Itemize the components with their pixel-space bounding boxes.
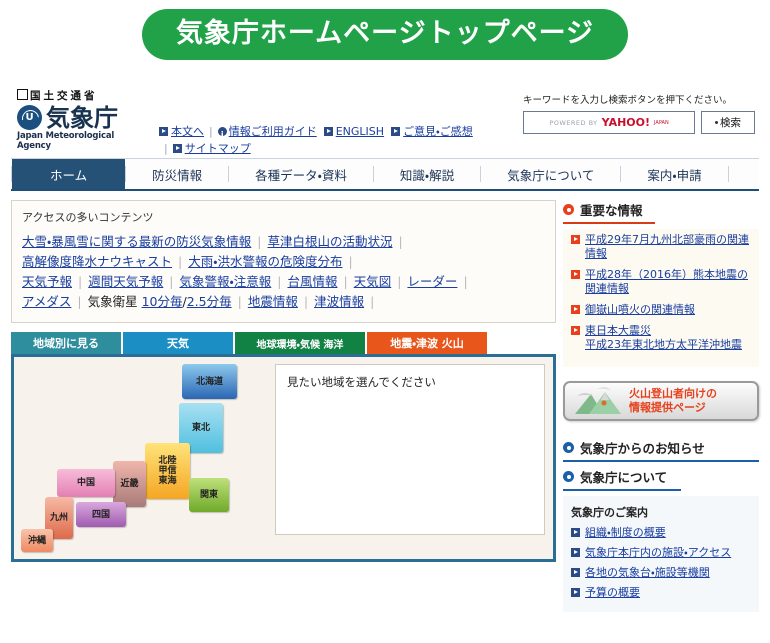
link-kusatsu-volcano[interactable]: 草津白根山の活動状況 [267,234,392,249]
important-info-item[interactable]: 御嶽山噴火の関連情報 [571,303,755,317]
nav-item-disaster[interactable]: 防災情報 [126,159,228,189]
square-arrow-icon [159,127,168,136]
nav-item-about[interactable]: 気象庁について [481,159,620,189]
link-org-overview[interactable]: 組織・制度の概要 [585,526,666,540]
region-label: 北海道 [196,377,223,387]
link-english[interactable]: ENGLISH [336,125,384,138]
region-block[interactable]: 沖縄 [21,529,53,552]
link-ontake-eruption[interactable]: 御嶽山噴火の関連情報 [585,303,695,317]
important-info-header: 重要な情報 [563,200,759,222]
tab-earthquake-tsunami-volcano[interactable]: 地震・津波 火山 [367,332,487,354]
link-divider: | [164,142,168,155]
site-header: 国土交通省 気象庁 Japan Meteorological Agency 本文… [11,86,759,158]
about-subtitle: 気象庁のご案内 [571,504,753,520]
notices-header: 気象庁からのお知らせ [563,438,759,460]
blue-bullet-icon [563,442,574,453]
square-arrow-icon [324,127,333,136]
region-label: 沖縄 [28,536,46,546]
search-input[interactable] [524,112,694,133]
label-satellite: 気象衛星 [88,294,138,309]
ministry-name: 国土交通省 [17,88,145,103]
about-list-item[interactable]: 気象庁本庁内の施設・アクセス [571,546,753,560]
search-button-label: 検索 [720,115,741,130]
square-arrow-icon [571,326,580,335]
agency-logo[interactable]: 国土交通省 気象庁 Japan Meteorological Agency [17,88,145,151]
important-info-title: 重要な情報 [580,200,643,219]
important-info-item[interactable]: 東日本大震災 平成23年東北地方太平洋沖地震 [571,324,755,352]
link-honbun[interactable]: 本文へ [171,125,204,138]
search-icon [715,121,718,124]
square-arrow-icon [571,548,580,557]
nav-item-home[interactable]: ホーム [12,159,125,189]
section-rule [563,460,759,462]
link-satellite-2p5min[interactable]: 2.5分毎 [187,294,232,309]
ministry-emblem-icon [17,89,28,100]
square-arrow-icon [173,144,182,153]
section-rule [563,489,681,491]
link-great-east-japan-earthquake[interactable]: 東日本大震災 平成23年東北地方太平洋沖地震 [585,324,742,352]
page-title-text: 気象庁ホームページトップページ [142,9,628,60]
link-typhoon[interactable]: 台風情報 [287,274,337,289]
link-hq-facilities-access[interactable]: 気象庁本庁内の施設・アクセス [585,546,731,560]
left-column: アクセスの多いコンテンツ 大雪・暴風雪に関する最新の防災気象情報|草津白根山の活… [11,200,556,612]
about-header: 気象庁について [563,467,759,489]
region-label: 中国 [77,478,95,488]
tab-by-region[interactable]: 地域別に見る [11,332,121,354]
region-block[interactable]: 北海道 [182,364,237,399]
region-prompt-text: 見たい地域を選んでください [287,375,436,389]
link-tsunami-info[interactable]: 津波情報 [314,294,364,309]
volcano-banner-line1: 火山登山者向けの [629,387,717,401]
about-list-item[interactable]: 組織・制度の概要 [571,526,753,540]
section-rule [563,222,655,224]
volcano-climber-banner[interactable]: 火山登山者向けの 情報提供ページ [563,381,759,421]
about-list: 気象庁のご案内 組織・制度の概要 気象庁本庁内の施設・アクセス 各地の気象台・施… [563,496,759,612]
region-label: 近畿 [120,479,138,489]
tab-environment-climate-ocean[interactable]: 地球環境・気候 海洋 [235,332,365,354]
search-hint-text: キーワードを入力し検索ボタンを押下ください。 [523,92,755,106]
link-heavy-snow-info[interactable]: 大雪・暴風雪に関する最新の防災気象情報 [22,234,251,249]
link-divider: | [209,125,213,138]
japan-region-map: 北海道東北北陸甲信東海関東近畿中国四国九州沖縄 [14,357,271,559]
important-info-item[interactable]: 平成29年7月九州北部豪雨の関連情報 [571,233,755,261]
search-area: キーワードを入力し検索ボタンを押下ください。 POWERED BY YAHOO!… [523,92,755,134]
right-column: 重要な情報 平成29年7月九州北部豪雨の関連情報 平成28年（2016年）熊本地… [563,200,759,612]
content-columns: アクセスの多いコンテンツ 大雪・暴風雪に関する最新の防災気象情報|草津白根山の活… [11,200,759,612]
link-highres-nowcast[interactable]: 高解像度降水ナウキャスト [22,254,172,269]
link-earthquake-info[interactable]: 地震情報 [248,294,298,309]
region-label: 甲信 [158,466,176,476]
volcano-banner-line2: 情報提供ページ [629,401,717,415]
link-budget-overview[interactable]: 予算の概要 [585,586,640,600]
nav-divider [728,166,729,182]
red-bullet-icon [563,204,574,215]
jma-logo-icon [17,105,42,130]
region-block[interactable]: 中国 [57,469,115,497]
search-box[interactable]: POWERED BY YAHOO! JAPAN [523,111,695,134]
popular-links-row-3: 天気予報|週間天気予報|気象警報・注意報|台風情報|天気図|レーダー| [22,272,545,292]
link-weather-chart[interactable]: 天気図 [354,274,392,289]
blue-bullet-icon [563,471,574,482]
square-arrow-icon [391,127,400,136]
square-arrow-icon [571,305,580,314]
nav-item-guide-apply[interactable]: 案内・申請 [621,159,727,189]
about-list-item[interactable]: 各地の気象台・施設等機関 [571,566,753,580]
about-title: 気象庁について [580,467,667,486]
nav-item-data[interactable]: 各種データ・資料 [229,159,373,189]
link-satellite-10min[interactable]: 10分毎 [142,294,183,309]
global-navigation: ホーム 防災情報 各種データ・資料 知識・解説 気象庁について 案内・申請 [11,158,759,191]
link-warnings[interactable]: 気象警報・注意報 [179,274,271,289]
link-local-observatories[interactable]: 各地の気象台・施設等機関 [585,566,710,580]
link-kumamoto-earthquake-2016[interactable]: 平成28年（2016年）熊本地震の関連情報 [585,268,755,296]
region-label: 四国 [92,510,110,520]
search-button[interactable]: 検索 [701,111,755,134]
notices-section[interactable]: 気象庁からのお知らせ [563,438,759,462]
tab-content-panel: 北海道東北北陸甲信東海関東近畿中国四国九州沖縄 見たい地域を選んでください [11,354,556,562]
square-arrow-icon [571,568,580,577]
region-label: 九州 [50,513,68,523]
region-label: 関東 [200,490,218,500]
popular-links-row-4: アメダス|気象衛星 10分毎/2.5分毎|地震情報|津波情報| [22,292,545,312]
region-block[interactable]: 関東 [189,478,229,512]
browser-page: 国土交通省 気象庁 Japan Meteorological Agency 本文… [11,86,759,635]
about-section: 気象庁について 気象庁のご案内 組織・制度の概要 気象庁本庁内の施設・アクセス [563,467,759,612]
region-tab-panel: 地域別に見る 天気 地球環境・気候 海洋 地震・津波 火山 北海道東北北陸甲信東… [11,332,556,562]
tab-weather[interactable]: 天気 [123,332,233,354]
popular-links-row-1: 大雪・暴風雪に関する最新の防災気象情報|草津白根山の活動状況| [22,232,545,252]
agency-name-ja: 気象庁 [46,106,118,130]
volcano-banner-text: 火山登山者向けの 情報提供ページ [629,387,717,415]
link-kyushu-heavy-rain-2017[interactable]: 平成29年7月九州北部豪雨の関連情報 [585,233,755,261]
popular-links-row-2: 高解像度降水ナウキャスト|大雨・洪水警報の危険度分布| [22,252,545,272]
link-weekly-forecast[interactable]: 週間天気予報 [88,274,163,289]
region-label: 東北 [192,423,210,433]
popular-content-box: アクセスの多いコンテンツ 大雪・暴風雪に関する最新の防災気象情報|草津白根山の活… [11,200,556,323]
square-arrow-icon [571,235,580,244]
link-sitemap[interactable]: サイトマップ [185,142,251,155]
region-block[interactable]: 近畿 [113,461,146,507]
important-info-list: 平成29年7月九州北部豪雨の関連情報 平成28年（2016年）熊本地震の関連情報… [563,229,759,367]
info-circle-icon [218,127,227,136]
square-arrow-icon [571,588,580,597]
important-info-section: 重要な情報 平成29年7月九州北部豪雨の関連情報 平成28年（2016年）熊本地… [563,200,759,367]
notices-title: 気象庁からのお知らせ [580,438,705,457]
link-amedas[interactable]: アメダス [22,294,71,309]
link-feedback[interactable]: ご意見・ご感想 [403,125,473,138]
square-arrow-icon [571,528,580,537]
page-title-banner: 気象庁ホームページトップページ [0,9,770,60]
important-info-item[interactable]: 平成28年（2016年）熊本地震の関連情報 [571,268,755,296]
nav-item-knowledge[interactable]: 知識・解説 [374,159,480,189]
link-guide[interactable]: 情報ご利用ガイド [229,125,317,138]
tab-strip: 地域別に見る 天気 地球環境・気候 海洋 地震・津波 火山 [11,332,556,354]
region-label: 北陸 [158,456,176,466]
region-label: 東海 [158,476,176,486]
square-arrow-icon [571,270,580,279]
region-prompt-box: 見たい地域を選んでください [275,364,545,535]
utility-links: 本文へ|情報ご利用ガイド ENGLISH ご意見・ご感想 |サイトマップ [159,123,519,157]
link-weather-forecast[interactable]: 天気予報 [22,274,72,289]
link-radar[interactable]: レーダー [407,274,457,289]
agency-name-en: Japan Meteorological Agency [17,131,145,151]
about-list-item[interactable]: 予算の概要 [571,586,753,600]
link-flood-risk-map[interactable]: 大雨・洪水警報の危険度分布 [188,254,342,269]
region-block[interactable]: 北陸甲信東海 [145,443,190,499]
region-block[interactable]: 四国 [76,502,126,527]
popular-content-title: アクセスの多いコンテンツ [22,209,545,225]
volcano-illustration-icon [571,386,625,416]
